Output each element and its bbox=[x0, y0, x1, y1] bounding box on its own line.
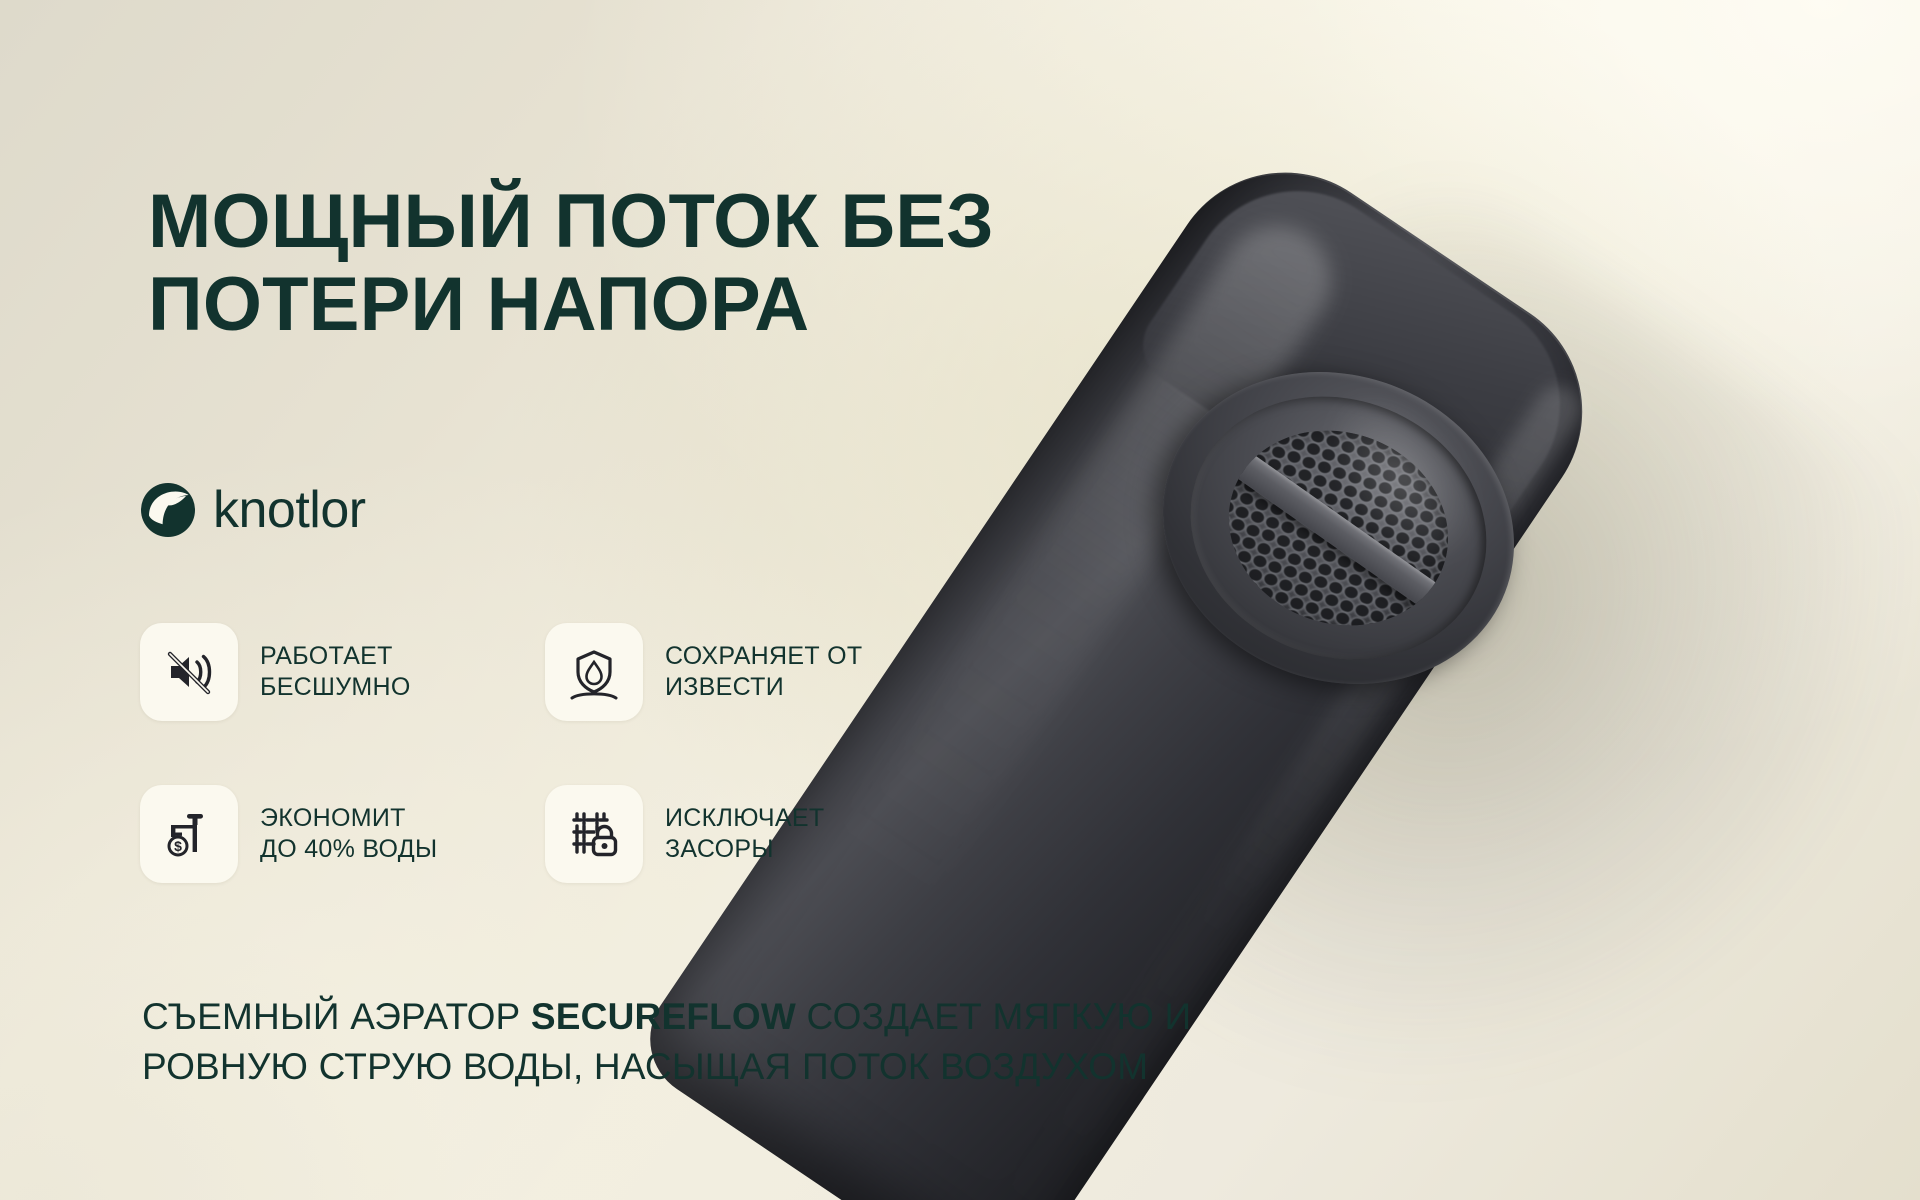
leaf-circle-icon bbox=[140, 482, 196, 538]
feature-item-limescale: СОХРАНЯЕТ ОТ ИЗВЕСТИ bbox=[545, 598, 930, 746]
feature-grid: РАБОТАЕТ БЕСШУМНО СОХРАНЯЕТ ОТ ИЗВЕСТИ bbox=[140, 598, 930, 908]
mesh-lock-icon bbox=[545, 785, 643, 883]
feature-item-water-saving: $ ЭКОНОМИТ ДО 40% ВОДЫ bbox=[140, 760, 525, 908]
brand-logo: knotlor bbox=[140, 482, 366, 538]
shield-droplet-icon bbox=[545, 623, 643, 721]
caption-text-after: СОЗДАЕТ МЯГКУЮ И bbox=[796, 996, 1191, 1037]
feature-label: ИСКЛЮЧАЕТ ЗАСОРЫ bbox=[665, 803, 824, 866]
feature-item-silent: РАБОТАЕТ БЕСШУМНО bbox=[140, 598, 525, 746]
faucet-savings-icon: $ bbox=[140, 785, 238, 883]
headline-line-2: ПОТЕРИ НАПОРА bbox=[148, 264, 1148, 347]
caption-product-name: SECUREFLOW bbox=[531, 996, 796, 1037]
caption: СЪЕМНЫЙ АЭРАТОР SECUREFLOW СОЗДАЕТ МЯГКУ… bbox=[142, 992, 1322, 1091]
brand-name: knotlor bbox=[213, 484, 366, 536]
promo-banner: МОЩНЫЙ ПОТОК БЕЗ ПОТЕРИ НАПОРА knotlor bbox=[0, 0, 1920, 1200]
svg-text:$: $ bbox=[174, 838, 182, 854]
caption-line-2: РОВНУЮ СТРУЮ ВОДЫ, НАСЫЩАЯ ПОТОК ВОЗДУХО… bbox=[142, 1042, 1322, 1092]
headline: МОЩНЫЙ ПОТОК БЕЗ ПОТЕРИ НАПОРА bbox=[148, 181, 1148, 347]
caption-line-1: СЪЕМНЫЙ АЭРАТОР SECUREFLOW СОЗДАЕТ МЯГКУ… bbox=[142, 992, 1322, 1042]
headline-line-1: МОЩНЫЙ ПОТОК БЕЗ bbox=[148, 179, 994, 264]
feature-label: ЭКОНОМИТ ДО 40% ВОДЫ bbox=[260, 803, 437, 866]
feature-item-no-clogs: ИСКЛЮЧАЕТ ЗАСОРЫ bbox=[545, 760, 930, 908]
feature-label: СОХРАНЯЕТ ОТ ИЗВЕСТИ bbox=[665, 641, 863, 704]
feature-label: РАБОТАЕТ БЕСШУМНО bbox=[260, 641, 411, 704]
caption-text-before: СЪЕМНЫЙ АЭРАТОР bbox=[142, 996, 531, 1037]
mute-speaker-icon bbox=[140, 623, 238, 721]
